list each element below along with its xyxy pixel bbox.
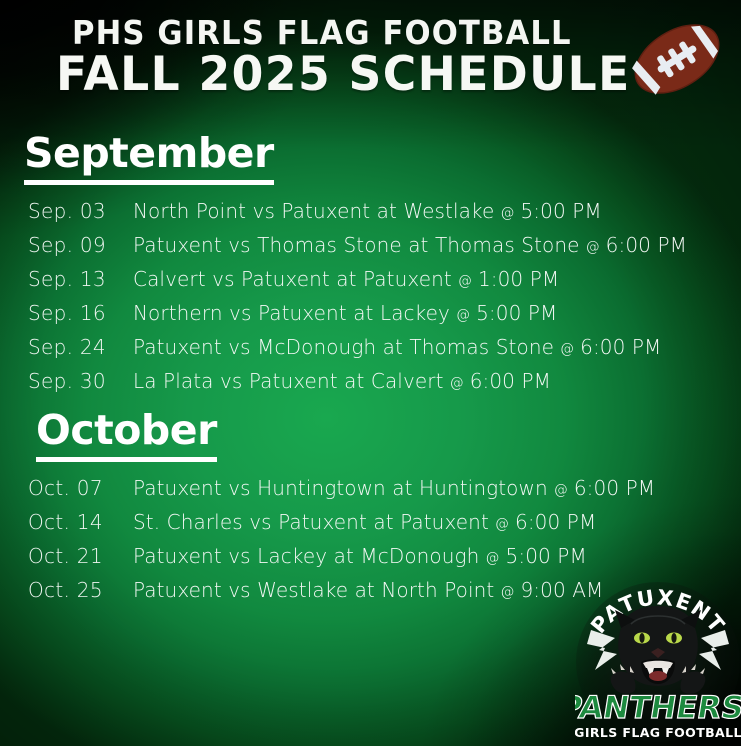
game-date: Sep. 09	[28, 233, 133, 257]
at-symbol: @	[552, 482, 570, 498]
game-row: Sep. 09 Patuxent vs Thomas Stone at Thom…	[28, 233, 741, 267]
game-date: Oct. 25	[28, 578, 133, 602]
at-symbol: @	[498, 205, 516, 221]
game-date: Sep. 30	[28, 369, 133, 393]
poster-header: PHS GIRLS FLAG FOOTBALL FALL 2025 SCHEDU…	[0, 0, 741, 118]
game-row: Sep. 03 North Point vs Patuxent at Westl…	[28, 199, 741, 233]
game-time: 5:00 PM	[520, 199, 601, 223]
game-row: Sep. 16 Northern vs Patuxent at Lackey@5…	[28, 301, 741, 335]
at-symbol: @	[584, 239, 602, 255]
game-date: Oct. 07	[28, 476, 133, 500]
game-matchup: Patuxent vs Huntingtown at Huntingtown	[133, 476, 548, 500]
at-symbol: @	[448, 375, 466, 391]
poster-title-line2: FALL 2025 SCHEDULE	[56, 47, 631, 102]
game-date: Sep. 16	[28, 301, 133, 325]
game-time: 6:00 PM	[470, 369, 551, 393]
game-list-september: Sep. 03 North Point vs Patuxent at Westl…	[0, 199, 741, 403]
game-time: 1:00 PM	[478, 267, 559, 291]
game-details: Patuxent vs McDonough at Thomas Stone@6:…	[133, 335, 661, 359]
game-time: 5:00 PM	[476, 301, 557, 325]
game-row: Oct. 21 Patuxent vs Lackey at McDonough@…	[28, 544, 741, 578]
game-time: 6:00 PM	[574, 476, 655, 500]
game-matchup: La Plata vs Patuxent at Calvert	[133, 369, 444, 393]
game-details: St. Charles vs Patuxent at Patuxent@6:00…	[133, 510, 596, 534]
panther-head-icon	[611, 606, 706, 694]
game-row: Oct. 07 Patuxent vs Huntingtown at Hunti…	[28, 476, 741, 510]
game-row: Oct. 14 St. Charles vs Patuxent at Patux…	[28, 510, 741, 544]
game-details: Patuxent vs Westlake at North Point@9:00…	[133, 578, 603, 602]
game-row: Sep. 30 La Plata vs Patuxent at Calvert@…	[28, 369, 741, 403]
month-heading-september: September	[24, 133, 274, 185]
game-matchup: Patuxent vs Westlake at North Point	[133, 578, 494, 602]
game-details: Patuxent vs Thomas Stone at Thomas Stone…	[133, 233, 687, 257]
at-symbol: @	[493, 516, 511, 532]
game-date: Sep. 03	[28, 199, 133, 223]
football-icon	[622, 10, 732, 108]
at-symbol: @	[456, 273, 474, 289]
game-row: Sep. 24 Patuxent vs McDonough at Thomas …	[28, 335, 741, 369]
game-details: Northern vs Patuxent at Lackey@5:00 PM	[133, 301, 557, 325]
month-section-september: September Sep. 03 North Point vs Patuxen…	[0, 133, 741, 403]
game-matchup: Patuxent vs Lackey at McDonough	[133, 544, 479, 568]
logo-subtitle: GIRLS FLAG FOOTBALL	[575, 725, 741, 740]
game-matchup: Northern vs Patuxent at Lackey	[133, 301, 450, 325]
game-time: 6:00 PM	[606, 233, 687, 257]
game-details: North Point vs Patuxent at Westlake@5:00…	[133, 199, 602, 223]
game-matchup: Patuxent vs Thomas Stone at Thomas Stone	[133, 233, 580, 257]
schedule-poster: PHS GIRLS FLAG FOOTBALL FALL 2025 SCHEDU…	[0, 0, 741, 746]
month-heading-october: October	[36, 410, 217, 462]
game-time: 6:00 PM	[515, 510, 596, 534]
game-details: Calvert vs Patuxent at Patuxent@1:00 PM	[133, 267, 559, 291]
game-details: Patuxent vs Huntingtown at Huntingtown@6…	[133, 476, 655, 500]
game-date: Oct. 14	[28, 510, 133, 534]
game-row: Sep. 13 Calvert vs Patuxent at Patuxent@…	[28, 267, 741, 301]
game-matchup: Patuxent vs McDonough at Thomas Stone	[133, 335, 554, 359]
game-matchup: Calvert vs Patuxent at Patuxent	[133, 267, 452, 291]
game-matchup: St. Charles vs Patuxent at Patuxent	[133, 510, 489, 534]
at-symbol: @	[558, 341, 576, 357]
patuxent-panthers-logo: PATUXENT	[575, 578, 741, 746]
at-symbol: @	[483, 550, 501, 566]
logo-team-name: PANTHERS	[575, 690, 741, 726]
game-time: 5:00 PM	[506, 544, 587, 568]
game-date: Sep. 13	[28, 267, 133, 291]
game-details: Patuxent vs Lackey at McDonough@5:00 PM	[133, 544, 587, 568]
at-symbol: @	[454, 307, 472, 323]
game-time: 6:00 PM	[580, 335, 661, 359]
game-details: La Plata vs Patuxent at Calvert@6:00 PM	[133, 369, 551, 393]
at-symbol: @	[498, 584, 516, 600]
game-date: Oct. 21	[28, 544, 133, 568]
game-matchup: North Point vs Patuxent at Westlake	[133, 199, 494, 223]
game-date: Sep. 24	[28, 335, 133, 359]
